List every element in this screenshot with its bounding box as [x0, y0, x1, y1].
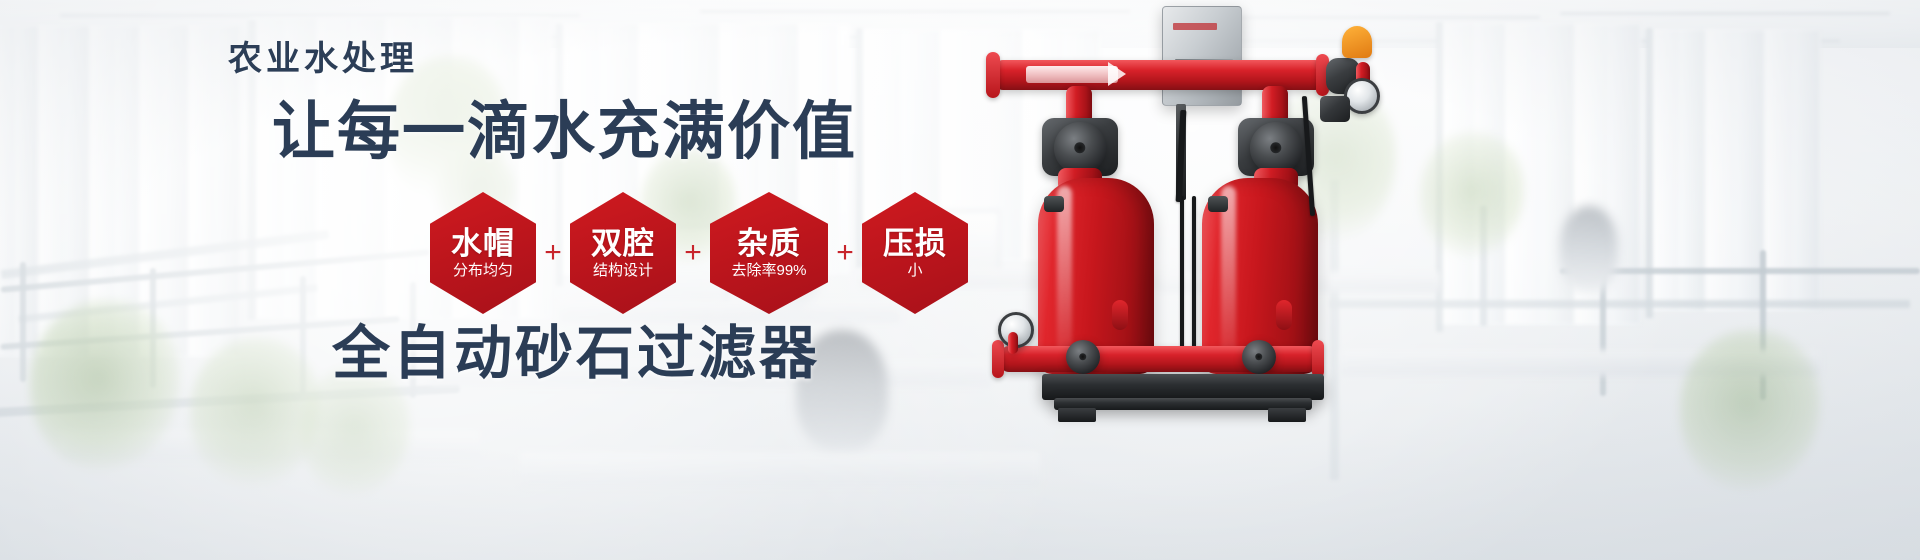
feature-badge-1-title: 水帽: [451, 228, 515, 260]
backwash-valve-left: [1054, 122, 1106, 174]
feature-badge-1-subtitle: 分布均匀: [453, 263, 513, 278]
backwash-valve-right: [1250, 122, 1302, 174]
banner-copy: 农业水处理 让每一滴水充满价值 水帽 分布均匀 + 双腔 结构设计 + 杂质 去…: [0, 0, 1000, 560]
eyebrow-text: 农业水处理: [228, 42, 418, 76]
control-box: [1162, 6, 1242, 106]
plus-separator-3: +: [828, 238, 862, 268]
plus-separator-2: +: [676, 238, 710, 268]
feature-badge-2-title: 双腔: [591, 228, 655, 260]
air-release-valve: [1342, 26, 1372, 58]
feature-badge-4-title: 压损: [883, 228, 947, 260]
plus-separator-1: +: [536, 238, 570, 268]
product-name-heading: 全自动砂石过滤器: [332, 325, 820, 383]
product-image-sand-filter: [980, 0, 1520, 560]
page-title: 让每一滴水充满价值: [272, 101, 857, 164]
feature-badge-4-subtitle: 小: [907, 263, 922, 278]
feature-badge-1: 水帽 分布均匀: [430, 192, 536, 314]
feature-badge-2-subtitle: 结构设计: [593, 263, 653, 278]
feature-badge-3-subtitle: 去除率99%: [731, 263, 806, 278]
feature-badge-2: 双腔 结构设计: [570, 192, 676, 314]
feature-badge-4: 压损 小: [862, 192, 968, 314]
promo-banner: 农业水处理 让每一滴水充满价值 水帽 分布均匀 + 双腔 结构设计 + 杂质 去…: [0, 0, 1920, 560]
feature-badge-3: 杂质 去除率99%: [710, 192, 828, 314]
equipment-base-frame: [1042, 374, 1324, 400]
feature-badge-row: 水帽 分布均匀 + 双腔 结构设计 + 杂质 去除率99% + 压损 小: [430, 192, 968, 314]
feature-badge-3-title: 杂质: [737, 228, 801, 260]
